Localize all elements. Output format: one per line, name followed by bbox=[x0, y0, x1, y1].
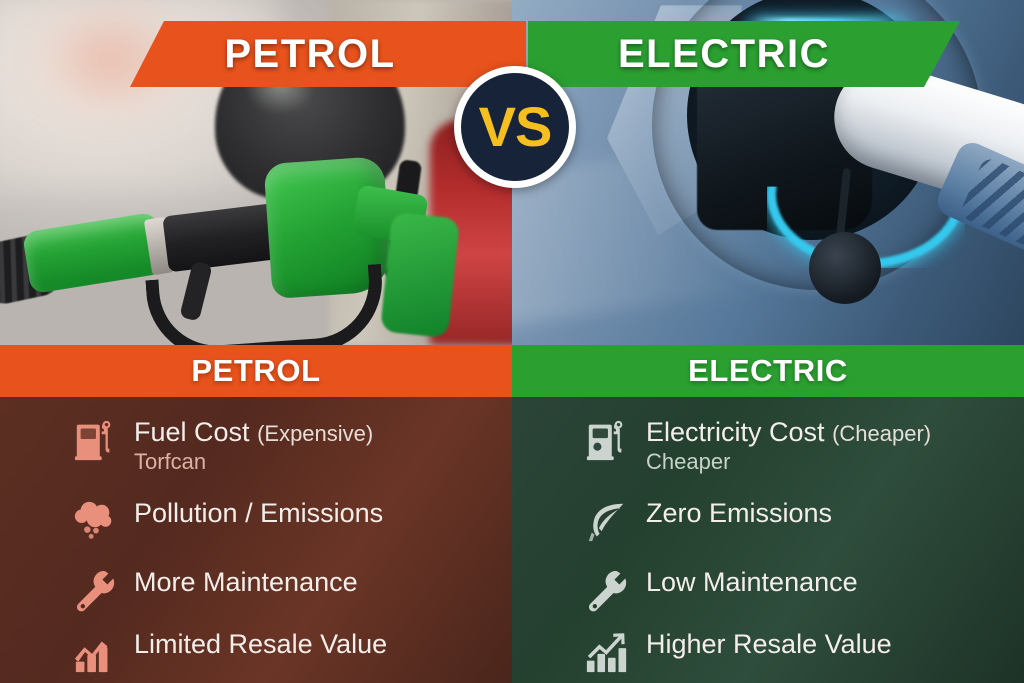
feature-row: Low Maintenance bbox=[584, 567, 858, 613]
feature-row: Zero Emissions bbox=[584, 498, 832, 544]
electric-top-banner-label: ELECTRIC bbox=[618, 32, 830, 77]
feature-row: Pollution / Emissions bbox=[72, 498, 383, 544]
electric-top-banner: ELECTRIC bbox=[528, 21, 960, 87]
feature-text: Higher Resale Value bbox=[646, 629, 892, 658]
vs-badge-label: VS bbox=[479, 99, 552, 155]
vs-badge: VS bbox=[461, 73, 569, 181]
feature-text: Limited Resale Value bbox=[134, 629, 387, 658]
feature-main-line: Electricity Cost (Cheaper) bbox=[646, 417, 931, 447]
feature-text: Electricity Cost (Cheaper) Cheaper bbox=[646, 417, 931, 476]
feature-title: Low Maintenance bbox=[646, 567, 858, 597]
feature-text: Zero Emissions bbox=[646, 498, 832, 527]
feature-row: Higher Resale Value bbox=[584, 629, 892, 675]
feature-main-line: Fuel Cost (Expensive) bbox=[134, 417, 373, 447]
feature-row: Limited Resale Value bbox=[72, 629, 387, 675]
feature-text: More Maintenance bbox=[134, 567, 358, 596]
feature-title: Limited Resale Value bbox=[134, 629, 387, 659]
petrol-section-header: PETROL bbox=[0, 345, 512, 397]
petrol-top-banner-label: PETROL bbox=[224, 32, 395, 77]
feature-qualifier: (Cheaper) bbox=[832, 421, 931, 446]
bar-chart-up-icon bbox=[584, 629, 630, 675]
wrench-icon bbox=[72, 567, 118, 613]
petrol-top-banner: PETROL bbox=[130, 21, 526, 87]
second-nozzle bbox=[380, 212, 460, 338]
petrol-vs-electric-infographic: PETROL ELECTRIC VS PETROL ELECTRIC bbox=[0, 0, 1024, 683]
feature-text: Pollution / Emissions bbox=[134, 498, 383, 527]
feature-row: Fuel Cost (Expensive) Torfcan bbox=[72, 417, 373, 476]
electric-feature-panel: Electricity Cost (Cheaper) Cheaper Zero … bbox=[512, 397, 1024, 683]
feature-title: Electricity Cost bbox=[646, 417, 825, 447]
petrol-section-header-label: PETROL bbox=[191, 353, 320, 389]
bar-chart-icon bbox=[72, 629, 118, 675]
charging-station-icon bbox=[584, 417, 630, 463]
feature-subtitle: Cheaper bbox=[646, 448, 931, 476]
fuel-pump-icon bbox=[72, 417, 118, 463]
feature-title: Higher Resale Value bbox=[646, 629, 892, 659]
feature-row: Electricity Cost (Cheaper) Cheaper bbox=[584, 417, 931, 476]
feature-title: Zero Emissions bbox=[646, 498, 832, 528]
smoke-cloud-icon bbox=[72, 498, 118, 544]
wrench-icon bbox=[584, 567, 630, 613]
feature-title: Fuel Cost bbox=[134, 417, 250, 447]
feature-title: Pollution / Emissions bbox=[134, 498, 383, 528]
feature-row: More Maintenance bbox=[72, 567, 358, 613]
feature-qualifier: (Expensive) bbox=[257, 421, 373, 446]
petrol-feature-panel: Fuel Cost (Expensive) Torfcan bbox=[0, 397, 512, 683]
electric-feature-list: Electricity Cost (Cheaper) Cheaper Zero … bbox=[512, 397, 1024, 683]
feature-text: Fuel Cost (Expensive) Torfcan bbox=[134, 417, 373, 476]
electric-section-header-label: ELECTRIC bbox=[688, 353, 848, 389]
feature-title: More Maintenance bbox=[134, 567, 358, 597]
port-cap bbox=[809, 232, 881, 304]
feature-subtitle: Torfcan bbox=[134, 448, 373, 476]
feature-text: Low Maintenance bbox=[646, 567, 858, 596]
petrol-feature-list: Fuel Cost (Expensive) Torfcan bbox=[0, 397, 512, 683]
electric-section-header: ELECTRIC bbox=[512, 345, 1024, 397]
leaf-icon bbox=[584, 498, 630, 544]
